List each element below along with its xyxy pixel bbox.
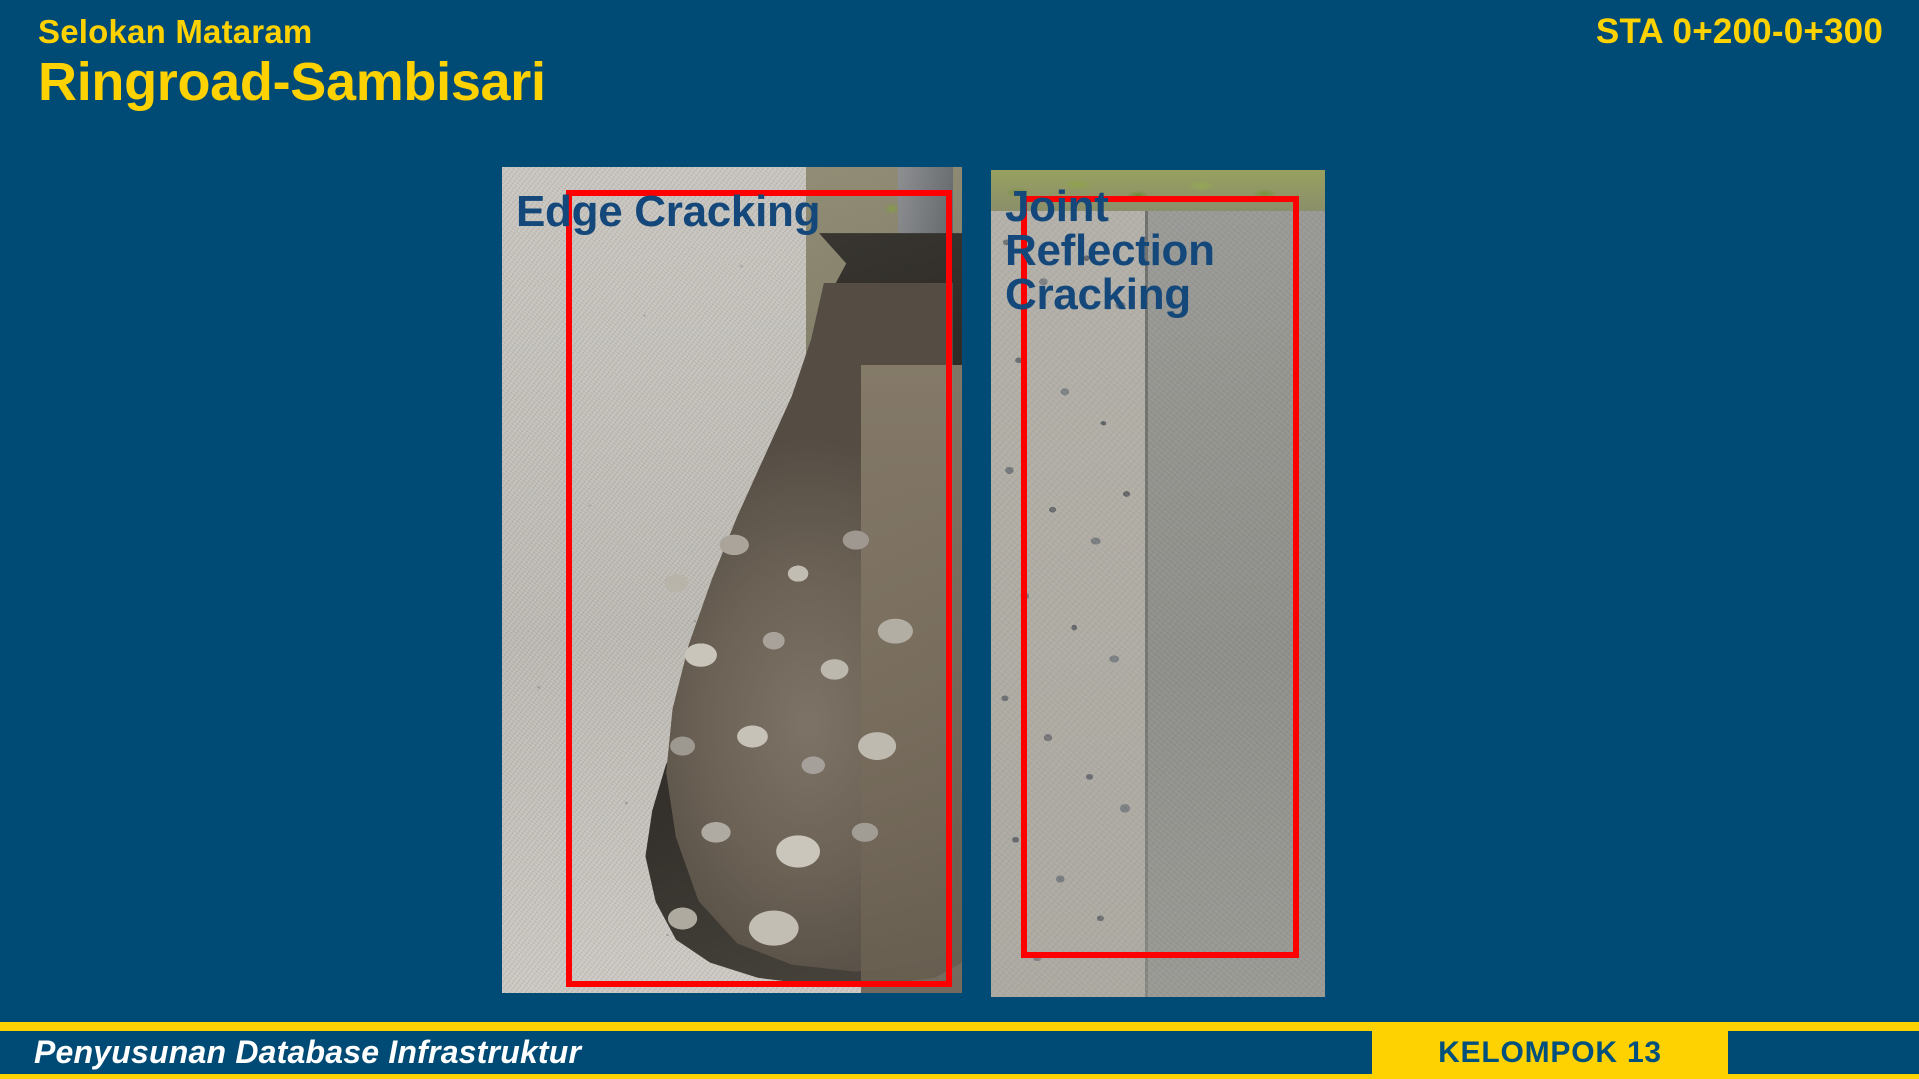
- sta-range-label: STA 0+200-0+300: [1596, 12, 1883, 52]
- photo-label-edge-cracking: Edge Cracking: [516, 190, 820, 234]
- footer-base-rule: [0, 1074, 1919, 1079]
- header-title-block: Selokan Mataram Ringroad-Sambisari: [38, 14, 546, 111]
- footer-divider-rule: [0, 1022, 1919, 1031]
- group-badge: KELOMPOK 13: [1372, 1031, 1728, 1074]
- photo-label-joint-reflection-cracking: Joint Reflection Cracking: [1005, 185, 1305, 317]
- page-title: Ringroad-Sambisari: [38, 54, 546, 111]
- header-subtitle: Selokan Mataram: [38, 14, 546, 50]
- annotation-box-edge-cracking: [566, 190, 952, 987]
- slide-canvas: Selokan Mataram Ringroad-Sambisari STA 0…: [0, 0, 1919, 1079]
- footer-caption: Penyusunan Database Infrastruktur: [34, 1034, 581, 1071]
- group-badge-label: KELOMPOK 13: [1438, 1036, 1662, 1070]
